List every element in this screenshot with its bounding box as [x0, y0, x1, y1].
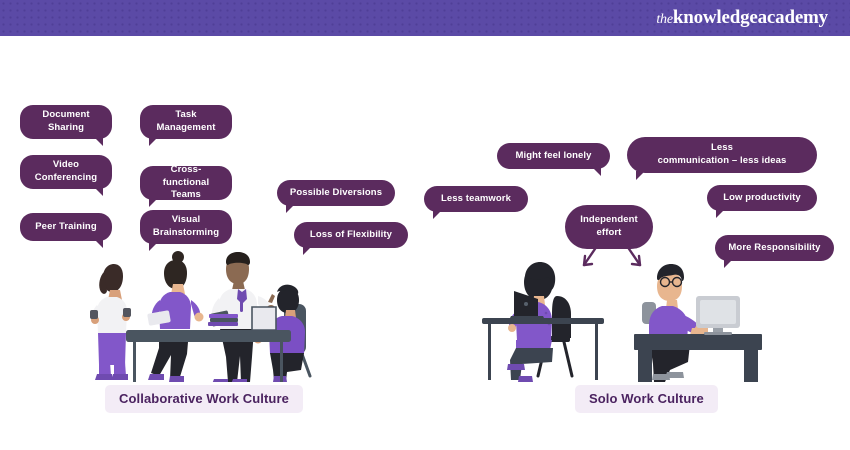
caption-solo-work-culture: Solo Work Culture [575, 385, 718, 413]
bubble-document-sharing: Document Sharing [20, 105, 112, 139]
brand-name: knowledgeacademy [673, 7, 828, 28]
person-leaning-woman [147, 251, 203, 382]
bubble-text: Less teamwork [441, 193, 511, 206]
bubble-text: Visual Brainstorming [153, 214, 219, 239]
bubble-video-conferencing: Video Conferencing [20, 155, 112, 189]
bubble-text: More Responsibility [728, 242, 820, 255]
bubble-might-feel-lonely: Might feel lonely [497, 143, 610, 169]
illustration-collaborative-team [88, 250, 333, 382]
illustration-solo-woman-laptop [478, 258, 618, 382]
bubble-possible-diversions: Possible Diversions [277, 180, 395, 206]
brand-prefix: the [656, 12, 673, 27]
bubble-low-productivity: Low productivity [707, 185, 817, 211]
bubble-text: Less communication – less ideas [658, 142, 787, 167]
bubble-text: Low productivity [723, 192, 801, 205]
infographic-canvas: theknowledgeacademy Document Sharing Tas… [0, 0, 850, 450]
bubble-text: Independent effort [580, 214, 638, 239]
header-bar: theknowledgeacademy [0, 0, 850, 36]
bubble-text: Possible Diversions [290, 187, 382, 200]
bubble-text: Video Conferencing [35, 159, 97, 184]
bubble-text: Loss of Flexibility [310, 229, 392, 242]
bubble-peer-training: Peer Training [20, 213, 112, 241]
bubble-text: Cross-functional Teams [148, 164, 224, 202]
bubble-text: Task Management [156, 109, 215, 134]
bubble-visual-brainstorming: Visual Brainstorming [140, 210, 232, 244]
bubble-less-teamwork: Less teamwork [424, 186, 528, 212]
bubble-text: Peer Training [35, 221, 97, 234]
illustration-solo-man-desktop [634, 258, 770, 382]
bubble-loss-of-flexibility: Loss of Flexibility [294, 222, 408, 248]
bubble-text: Might feel lonely [515, 150, 591, 163]
brand-logo[interactable]: theknowledgeacademy [656, 7, 828, 29]
bubble-cross-functional-teams: Cross-functional Teams [140, 166, 232, 200]
bubble-less-communication-less-ideas: Less communication – less ideas [627, 137, 817, 173]
bubble-text: Document Sharing [42, 109, 89, 134]
person-standing-left [90, 264, 131, 380]
caption-collaborative-work-culture: Collaborative Work Culture [105, 385, 303, 413]
bubble-task-management: Task Management [140, 105, 232, 139]
